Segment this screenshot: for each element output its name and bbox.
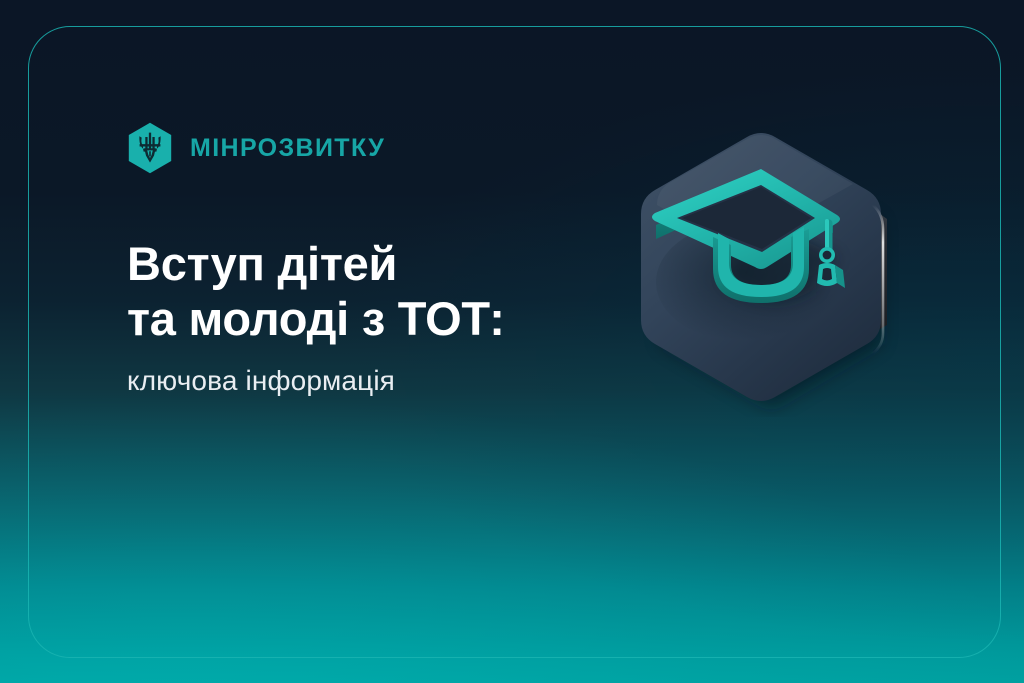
slide-canvas: МІНРОЗВИТКУ Вступ дітей та молоді з ТОТ:…: [0, 0, 1024, 683]
ukraine-trident-hexagon-icon: [127, 122, 173, 174]
brand-lockup[interactable]: МІНРОЗВИТКУ: [127, 122, 385, 174]
headline-block: Вступ дітей та молоді з ТОТ: ключова інф…: [127, 236, 597, 398]
cap-tassel-knot-hole: [823, 251, 832, 260]
graduation-cap-hexagon-badge: [601, 97, 921, 417]
page-subtitle: ключова інформація: [127, 364, 597, 398]
brand-wordmark: МІНРОЗВИТКУ: [190, 136, 385, 161]
page-title: Вступ дітей та молоді з ТОТ:: [127, 236, 597, 347]
cap-tassel-body-hole: [822, 268, 832, 281]
